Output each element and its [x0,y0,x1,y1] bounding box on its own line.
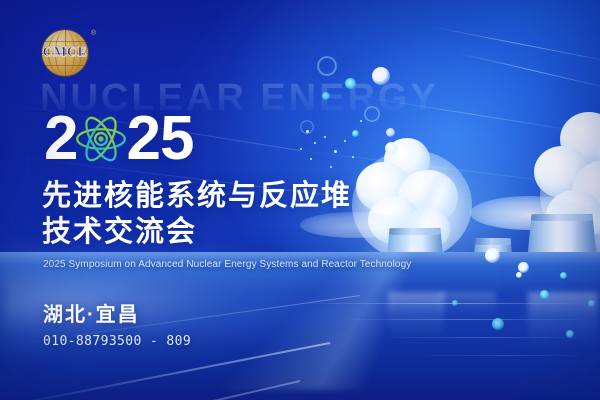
spark-particle [310,158,312,160]
spark-particle [314,142,316,144]
conference-poster: CMCE ® NUCLEAR ENERGY 2 [0,0,600,400]
globe-parallel [42,65,88,66]
globe-icon: CMCE [42,30,88,76]
year-prefix: 2 [44,108,77,170]
bokeh-particle [485,248,500,263]
spark-particle [300,148,302,150]
bokeh-particle [540,290,549,299]
bokeh-particle [352,130,359,137]
spark-particle [324,136,326,138]
spark-particle [344,140,346,142]
spark-particle [352,156,354,158]
bokeh-particle [566,330,574,338]
contact-phone: 010-88793500 - 809 [43,334,191,350]
bokeh-particle [492,318,504,330]
subtitle-english: 2025 Symposium on Advanced Nuclear Energ… [43,258,411,272]
globe-parallel [42,41,88,42]
cmce-logo[interactable]: CMCE ® [38,28,96,76]
year-suffix: 25 [126,108,193,170]
bokeh-particle [385,142,398,155]
bokeh-particle [317,56,337,76]
spark-particle [330,166,332,168]
trademark-icon: ® [91,30,96,37]
bokeh-particle [560,272,567,279]
title-line-2: 技术交流会 [42,214,352,250]
spark-particle [306,130,309,133]
page-title: 先进核能系统与反应堆 技术交流会 [42,178,352,250]
atom-icon [74,112,128,166]
logo-wordmark: CMCE [42,46,88,60]
spark-particle [360,120,362,122]
bokeh-particle [386,128,395,137]
event-location: 湖北·宜昌 [43,303,140,327]
bokeh-particle [452,300,458,306]
bokeh-particle [588,300,595,307]
bokeh-particle [516,272,522,278]
title-line-1: 先进核能系统与反应堆 [42,178,352,214]
year-display: 2 25 [44,108,193,170]
spark-particle [334,150,337,153]
